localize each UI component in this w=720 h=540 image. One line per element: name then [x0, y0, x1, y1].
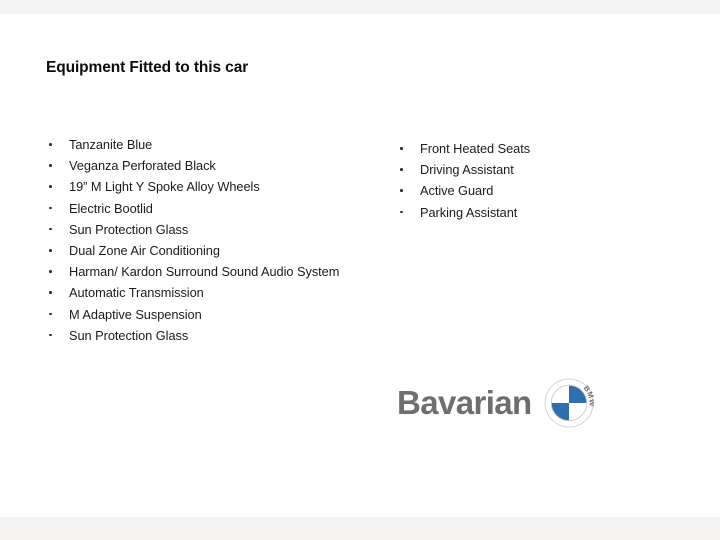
list-item-label: Harman/ Kardon Surround Sound Audio Syst…	[69, 264, 339, 279]
bullet-icon	[400, 189, 403, 192]
list-item-label: Sun Protection Glass	[69, 222, 188, 237]
list-item-label: Active Guard	[420, 183, 493, 198]
list-item: Dual Zone Air Conditioning	[46, 240, 376, 261]
bullet-icon	[49, 143, 52, 146]
equipment-list-left: Tanzanite Blue Veganza Perforated Black …	[46, 134, 376, 346]
bullet-icon	[49, 313, 52, 316]
bullet-icon	[49, 228, 52, 231]
equipment-column-right: Front Heated Seats Driving Assistant Act…	[397, 138, 687, 223]
list-item: Electric Bootlid	[46, 198, 376, 219]
top-letterbox-band	[0, 0, 720, 14]
bullet-icon	[49, 207, 52, 210]
list-item-label: Tanzanite Blue	[69, 137, 152, 152]
list-item-label: Electric Bootlid	[69, 201, 153, 216]
list-item-label: Parking Assistant	[420, 205, 517, 220]
list-item: Tanzanite Blue	[46, 134, 376, 155]
bullet-icon	[49, 249, 52, 252]
bullet-icon	[400, 147, 403, 150]
bullet-icon	[49, 185, 52, 188]
list-item-label: Sun Protection Glass	[69, 328, 188, 343]
bullet-icon	[400, 211, 403, 214]
list-item-label: Front Heated Seats	[420, 141, 530, 156]
list-item-label: Automatic Transmission	[69, 285, 204, 300]
list-item: Driving Assistant	[397, 159, 687, 180]
bullet-icon	[49, 334, 52, 337]
list-item: Sun Protection Glass	[46, 219, 376, 240]
list-item-label: Dual Zone Air Conditioning	[69, 243, 220, 258]
list-item: Automatic Transmission	[46, 282, 376, 303]
list-item: 19” M Light Y Spoke Alloy Wheels	[46, 176, 376, 197]
list-item: Veganza Perforated Black	[46, 155, 376, 176]
brand-lockup: Bavarian BMW	[397, 378, 597, 430]
bullet-icon	[49, 270, 52, 273]
list-item-label: Driving Assistant	[420, 162, 514, 177]
list-item: Harman/ Kardon Surround Sound Audio Syst…	[46, 261, 376, 282]
list-item: Sun Protection Glass	[46, 325, 376, 346]
bavarian-wordmark: Bavarian	[397, 384, 532, 422]
bottom-letterbox-band	[0, 517, 720, 540]
bmw-roundel-icon: BMW	[544, 378, 594, 428]
equipment-column-left: Tanzanite Blue Veganza Perforated Black …	[46, 134, 376, 346]
list-item-label: M Adaptive Suspension	[69, 307, 202, 322]
bullet-icon	[400, 168, 403, 171]
page-title: Equipment Fitted to this car	[46, 59, 248, 77]
list-item: Parking Assistant	[397, 202, 687, 223]
list-item-label: 19” M Light Y Spoke Alloy Wheels	[69, 179, 260, 194]
list-item: Active Guard	[397, 180, 687, 201]
bullet-icon	[49, 291, 52, 294]
slide-canvas: Equipment Fitted to this car Tanzanite B…	[0, 0, 720, 540]
bullet-icon	[49, 164, 52, 167]
list-item: Front Heated Seats	[397, 138, 687, 159]
equipment-list-right: Front Heated Seats Driving Assistant Act…	[397, 138, 687, 223]
list-item-label: Veganza Perforated Black	[69, 158, 216, 173]
list-item: M Adaptive Suspension	[46, 304, 376, 325]
